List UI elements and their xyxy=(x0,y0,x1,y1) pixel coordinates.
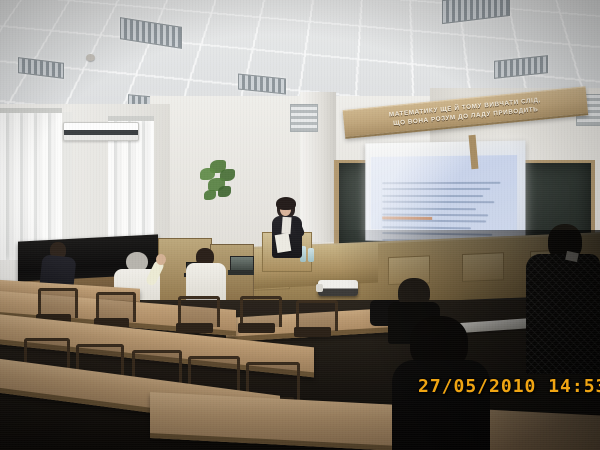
chair-seat xyxy=(176,323,213,333)
screen-glare xyxy=(365,140,525,243)
presenter-papers xyxy=(275,233,292,253)
projector-lens-icon xyxy=(316,284,323,292)
laptop xyxy=(228,256,254,276)
laptop-keyboard xyxy=(228,270,254,275)
water-bottle xyxy=(308,248,314,262)
presenter xyxy=(268,198,306,260)
air-conditioner xyxy=(63,122,139,141)
smoke-detector-icon xyxy=(86,54,95,61)
chair xyxy=(240,296,276,344)
hanging-plant xyxy=(200,160,244,206)
ventilation-grille-icon xyxy=(290,104,318,132)
camera-timestamp: 27/05/2010 14:53 xyxy=(418,376,600,397)
window-blinds xyxy=(0,110,62,260)
chair-seat xyxy=(238,323,275,333)
presenter-shirt xyxy=(281,217,291,235)
presenter-hair xyxy=(276,197,296,210)
hand xyxy=(156,254,166,265)
blind-rail xyxy=(108,116,154,121)
photograph: МАТЕМАТИКУ ЩЕ Й ТОМУ ВИВЧАТИ СЛІД, ЩО ВО… xyxy=(0,0,600,450)
projection-screen xyxy=(365,140,525,243)
chair xyxy=(296,300,332,348)
blind-rail xyxy=(0,108,62,113)
shadow-overlay xyxy=(330,230,600,450)
chair-seat xyxy=(294,327,331,337)
